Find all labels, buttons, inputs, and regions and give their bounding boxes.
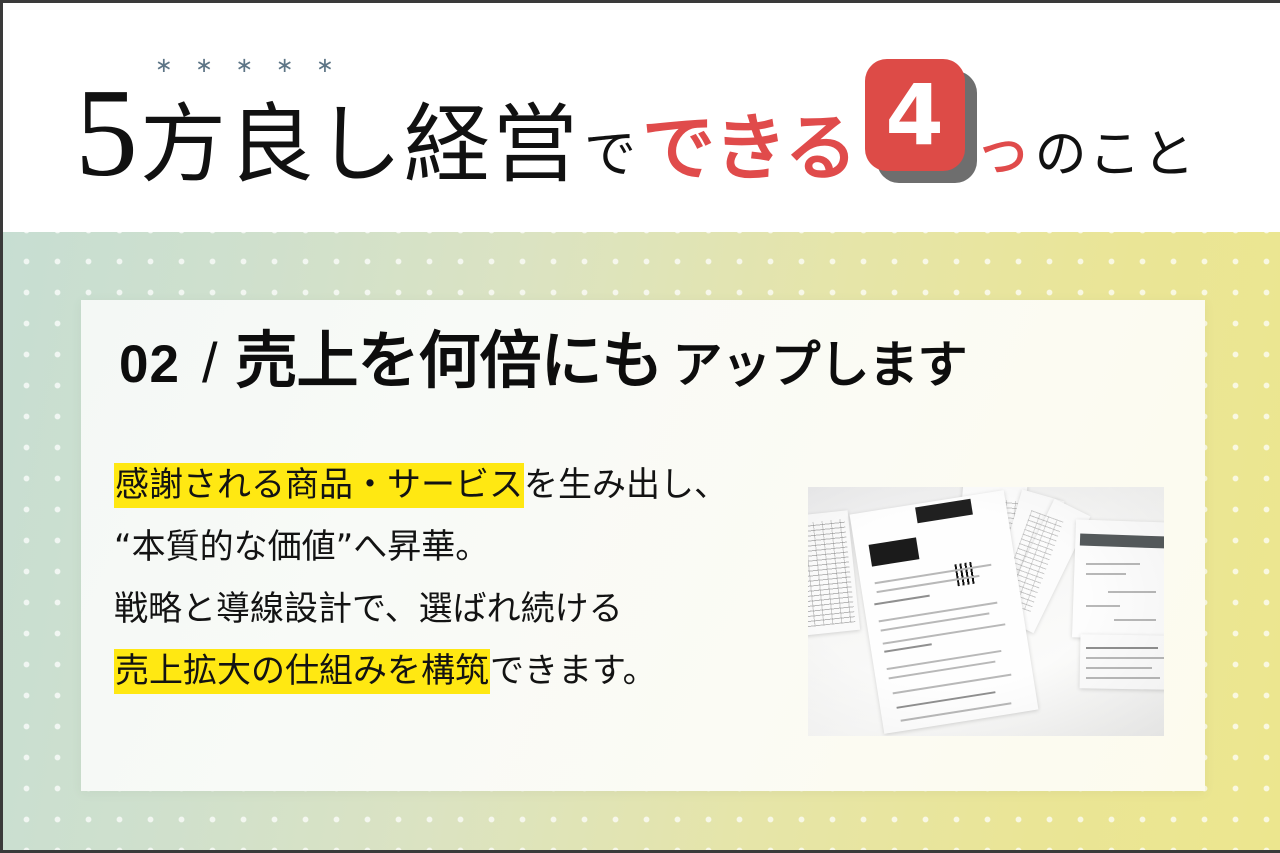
body-highlight: 売上拡大の仕組みを構筑 — [114, 649, 490, 694]
section-separator: / — [202, 335, 218, 391]
body-line: 戦略と導線設計で、選ばれ続ける — [114, 592, 814, 626]
documents-photo — [808, 487, 1164, 736]
body-highlight: 感謝される商品・サービス — [114, 463, 524, 508]
body-plain: “本質的な価値”へ昇華。 — [114, 527, 489, 567]
body-line: “本質的な価値”へ昇華。 — [114, 530, 814, 564]
body-paragraph: 感謝される商品・サービスを生み出し、 “本質的な価値”へ昇華。 戦略と導線設計で… — [114, 468, 814, 688]
number-badge-face: 4 — [865, 59, 965, 171]
body-plain: 戦略と導線設計で、選ばれ続ける — [114, 589, 623, 629]
body-line: 感謝される商品・サービスを生み出し、 — [114, 468, 814, 502]
body-plain: を生み出し、 — [524, 465, 728, 505]
section-number: 02 — [119, 338, 180, 391]
title-accent-word: できる — [642, 114, 857, 185]
photo-vignette — [808, 487, 1164, 736]
content-card: 02 / 売上を何倍にも アップします 感謝される商品・サービスを生み出し、 “… — [81, 300, 1205, 791]
title-particle: で — [584, 129, 636, 185]
title-tail: のこと — [1035, 129, 1197, 185]
body-line: 売上拡大の仕組みを構筑できます。 — [114, 654, 814, 688]
slide: ∗ ∗ ∗ ∗ ∗ 5 方良し経営 で できる 4 つ のこと 02 / 売上を… — [0, 0, 1280, 853]
page-title: 5 方良し経営 で できる 4 つ のこと — [75, 55, 1197, 185]
number-badge-value: 4 — [885, 73, 943, 157]
number-badge: 4 — [865, 59, 977, 183]
slide-header: ∗ ∗ ∗ ∗ ∗ 5 方良し経営 で できる 4 つ のこと — [3, 3, 1280, 232]
section-title-main: 売上を何倍にも — [236, 330, 663, 392]
title-number-5: 5 — [75, 82, 138, 185]
title-kanji: 方良し経営 — [140, 106, 580, 185]
section-title-sub: アップします — [673, 340, 967, 390]
title-counter: つ — [981, 133, 1027, 185]
section-heading: 02 / 売上を何倍にも アップします — [119, 330, 967, 392]
body-plain: できます。 — [490, 651, 657, 691]
